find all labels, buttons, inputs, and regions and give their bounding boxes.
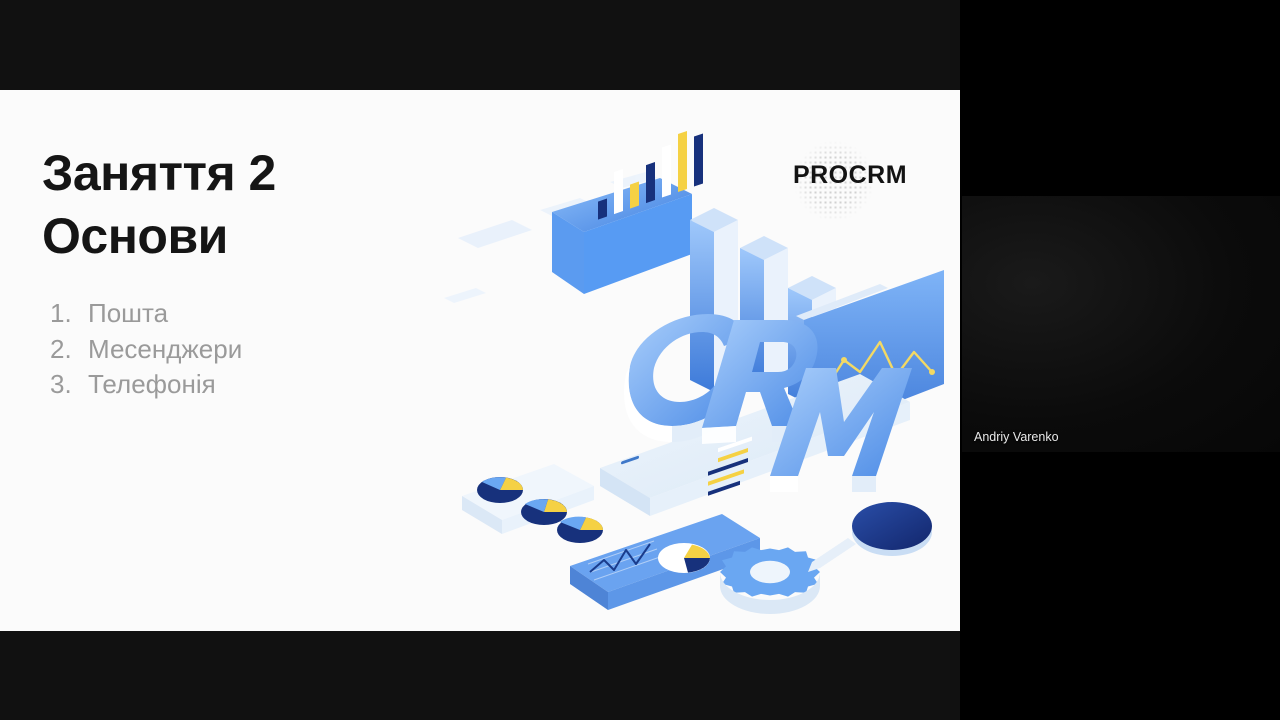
crm-illustration <box>440 120 960 630</box>
list-item-number: 2. <box>42 332 88 368</box>
list-item: 2. Месенджери <box>42 332 462 368</box>
list-item-number: 3. <box>42 367 88 403</box>
bar-chart-card <box>552 131 703 294</box>
page-title: Заняття 2 Основи <box>42 142 462 268</box>
pie-2 <box>521 499 567 525</box>
list-item: 1. Пошта <box>42 296 462 332</box>
list-item-label: Месенджери <box>88 332 242 368</box>
list-item-number: 1. <box>42 296 88 332</box>
presentation-slide: Заняття 2 Основи 1. Пошта 2. Месенджери … <box>0 90 960 631</box>
slide-text-column: Заняття 2 Основи 1. Пошта 2. Месенджери … <box>42 142 462 403</box>
list-item-label: Телефонія <box>88 367 216 403</box>
screen-share-region: Заняття 2 Основи 1. Пошта 2. Месенджери … <box>0 0 960 720</box>
pie-1 <box>477 477 523 503</box>
list-item-label: Пошта <box>88 296 168 332</box>
participants-panel: Andriy Varenko <box>960 0 1280 720</box>
pie-chart-tray <box>462 464 603 543</box>
agenda-list: 1. Пошта 2. Месенджери 3. Телефонія <box>42 296 462 403</box>
gear-icon <box>720 547 820 614</box>
participant-video-tile[interactable]: Andriy Varenko <box>962 196 1280 452</box>
pie-3 <box>557 517 603 543</box>
magnifier-icon <box>808 502 932 572</box>
list-item: 3. Телефонія <box>42 367 462 403</box>
participant-name: Andriy Varenko <box>974 430 1059 444</box>
phone-pie <box>658 543 710 573</box>
